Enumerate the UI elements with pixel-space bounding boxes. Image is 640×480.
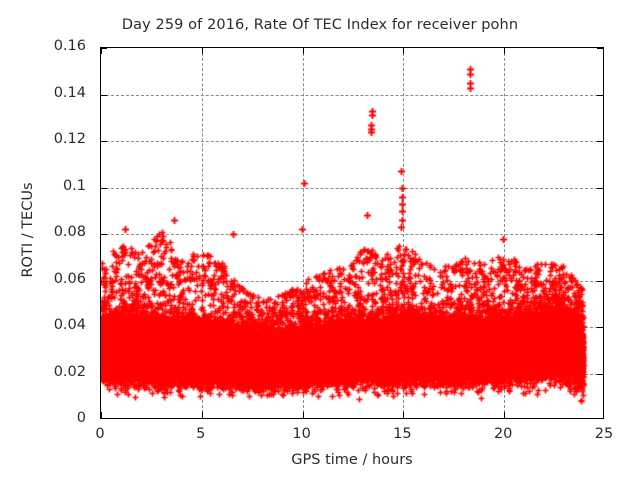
- y-tick-label: 0.06: [0, 271, 86, 287]
- scatter-series-roti: [101, 48, 604, 419]
- plot-area: [100, 47, 604, 419]
- y-tick-label: 0.12: [0, 131, 86, 147]
- y-tick-label: 0: [0, 410, 86, 426]
- x-axis-label: GPS time / hours: [100, 452, 604, 468]
- x-tick-label: 15: [372, 426, 432, 442]
- y-tick-label: 0.02: [0, 364, 86, 380]
- y-tick-label: 0.04: [0, 317, 86, 333]
- y-tick-label: 0.14: [0, 85, 86, 101]
- x-tick-label: 10: [272, 426, 332, 442]
- x-tick-label: 0: [70, 426, 130, 442]
- y-tick-label: 0.08: [0, 224, 86, 240]
- y-tick-label: 0.1: [0, 178, 86, 194]
- x-tick-label: 20: [473, 426, 533, 442]
- x-tick-label: 5: [171, 426, 231, 442]
- y-tick-label: 0.16: [0, 38, 86, 54]
- x-tick-label: 25: [574, 426, 634, 442]
- page-title: Day 259 of 2016, Rate Of TEC Index for r…: [0, 17, 640, 33]
- chart-page: Day 259 of 2016, Rate Of TEC Index for r…: [0, 0, 640, 480]
